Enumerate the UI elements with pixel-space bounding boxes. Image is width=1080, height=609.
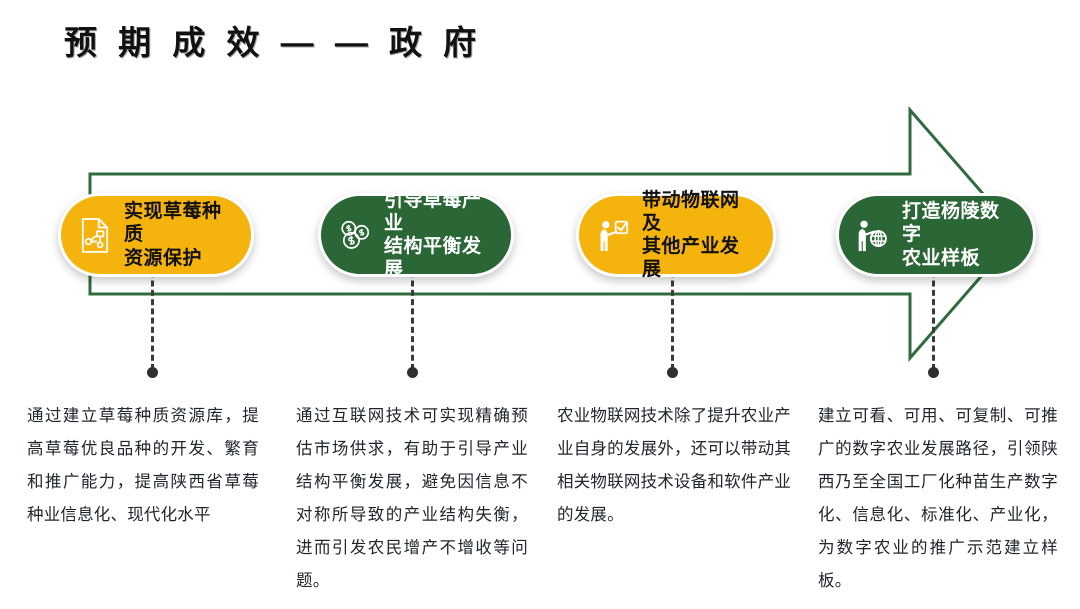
step-description-2: 通过互联网技术可实现精确预估市场供求，有助于引导产业结构平衡发展，避免因信息不对…: [296, 400, 528, 598]
connector-dot-1: [147, 367, 158, 378]
document-flowchart-icon: [77, 215, 113, 255]
connector-dot-2: [407, 367, 418, 378]
connector-line-4: [932, 262, 935, 370]
step-description-3: 农业物联网技术除了提升农业产业自身的发展外，还可以带动其相关物联网技术设备和软件…: [557, 400, 791, 532]
step-pill-label-1: 实现草莓种质 资源保护: [124, 200, 233, 270]
connector-dot-3: [667, 367, 678, 378]
step-pill-1[interactable]: 实现草莓种质 资源保护: [58, 193, 254, 277]
person-globe-icon: [855, 215, 891, 255]
connector-line-1: [151, 262, 154, 370]
step-description-1: 通过建立草莓种质资源库，提高草莓优良品种的开发、繁育和推广能力，提高陕西省草莓种…: [27, 400, 259, 532]
step-description-4: 建立可看、可用、可复制、可推广的数字农业发展路径，引领陕西乃至全国工厂化种苗生产…: [818, 400, 1058, 598]
step-pill-3[interactable]: 带动物联网及 其他产业发展: [576, 193, 776, 277]
person-checklist-icon: [595, 215, 631, 255]
slide-canvas: 预 期 成 效 — — 政 府 实现草莓种质 资源保护: [0, 0, 1080, 609]
step-pill-2[interactable]: 引导草莓产业 结构平衡发展: [318, 193, 514, 277]
coins-money-icon: [337, 215, 373, 255]
step-pill-4[interactable]: 打造杨陵数字 农业样板: [836, 193, 1036, 277]
page-title: 预 期 成 效 — — 政 府: [64, 16, 482, 64]
step-pill-label-2: 引导草莓产业 结构平衡发展: [384, 189, 493, 282]
connector-dot-4: [928, 367, 939, 378]
step-pill-label-3: 带动物联网及 其他产业发展: [642, 189, 755, 282]
step-pill-label-4: 打造杨陵数字 农业样板: [902, 200, 1015, 270]
